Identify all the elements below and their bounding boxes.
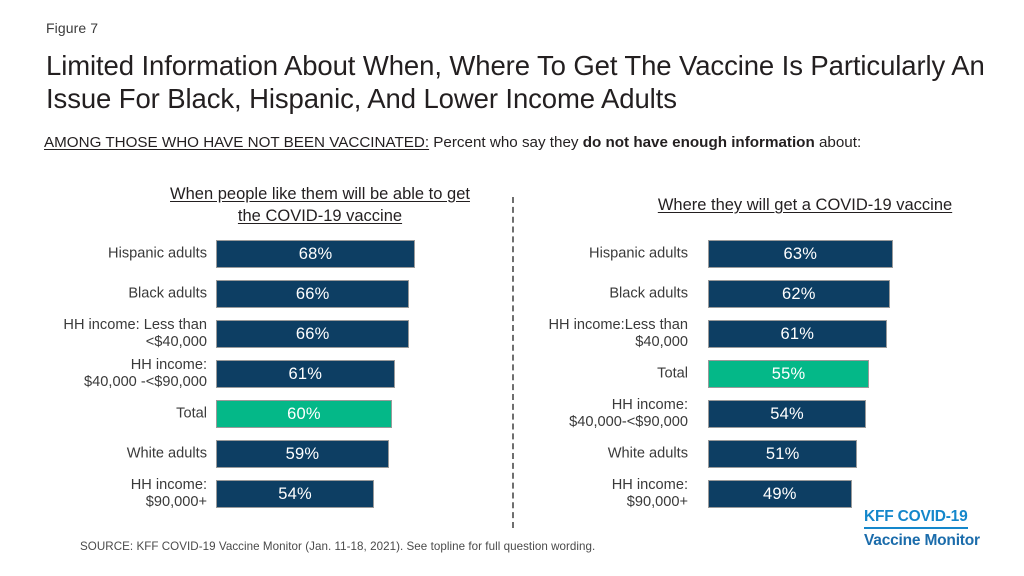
subtitle-underlined-part: AMONG THOSE WHO HAVE NOT BEEN VACCINATED… xyxy=(44,134,429,151)
bar-value-label: 66% xyxy=(296,325,330,343)
bar-category-label: Hispanic adults xyxy=(520,246,688,263)
bar-value-label: 62% xyxy=(782,285,816,303)
bar-category-label: Total xyxy=(520,366,688,383)
chart-title-left: When people like them will be able to ge… xyxy=(160,183,480,227)
subtitle-normal-part-1: Percent who say they xyxy=(429,134,583,151)
bar-category-label: Hispanic adults xyxy=(0,246,207,263)
kff-logo-line2: Vaccine Monitor xyxy=(864,532,1004,550)
bar-category-label: Black adults xyxy=(0,286,207,303)
bar: 62% xyxy=(708,280,890,308)
bar: 54% xyxy=(216,480,374,508)
kff-logo-line1: KFF COVID-19 xyxy=(864,508,968,529)
bar-row: HH income: Less than <$40,00066% xyxy=(0,314,500,354)
bar: 61% xyxy=(216,360,395,388)
slide-canvas: Figure 7 Limited Information About When,… xyxy=(0,0,1024,576)
bar-row: White adults51% xyxy=(520,434,1020,474)
bar-value-label: 63% xyxy=(783,245,817,263)
bar-category-label: HH income: $90,000+ xyxy=(0,477,207,511)
bar-row: White adults59% xyxy=(0,434,500,474)
bar: 51% xyxy=(708,440,857,468)
kff-logo[interactable]: KFF COVID-19 Vaccine Monitor xyxy=(864,508,1004,550)
bar-value-label: 60% xyxy=(287,405,321,423)
bar-category-label: HH income: Less than <$40,000 xyxy=(0,317,207,351)
bar-row: Hispanic adults68% xyxy=(0,234,500,274)
bar: 66% xyxy=(216,280,409,308)
subtitle-bold-part: do not have enough information xyxy=(583,134,815,151)
bar: 68% xyxy=(216,240,415,268)
chart-title-right: Where they will get a COVID-19 vaccine xyxy=(600,194,1010,216)
bar-row: HH income: $40,000 -<$90,00061% xyxy=(0,354,500,394)
bar-category-label: Total xyxy=(0,406,207,423)
subtitle-normal-part-2: about: xyxy=(815,134,861,151)
bar-category-label: White adults xyxy=(520,446,688,463)
page-title: Limited Information About When, Where To… xyxy=(46,49,1006,115)
bar-value-label: 54% xyxy=(770,405,804,423)
bar-value-label: 54% xyxy=(278,485,312,503)
bar-category-label: Black adults xyxy=(520,286,688,303)
bar-chart-right: Hispanic adults63%Black adults62%HH inco… xyxy=(520,232,1020,522)
bar-row: Total60% xyxy=(0,394,500,434)
bar-category-label: HH income:Less than $40,000 xyxy=(520,317,688,351)
bar-row: Black adults66% xyxy=(0,274,500,314)
figure-label: Figure 7 xyxy=(46,20,98,36)
bar-value-label: 59% xyxy=(286,445,320,463)
bar-row: Hispanic adults63% xyxy=(520,234,1020,274)
bar-value-label: 55% xyxy=(772,365,806,383)
bar-value-label: 61% xyxy=(289,365,323,383)
source-note: SOURCE: KFF COVID-19 Vaccine Monitor (Ja… xyxy=(80,540,595,553)
bar-row: HH income: $90,000+54% xyxy=(0,474,500,514)
bar: 60% xyxy=(216,400,392,428)
bar: 49% xyxy=(708,480,852,508)
panel-divider xyxy=(512,197,514,528)
subtitle: AMONG THOSE WHO HAVE NOT BEEN VACCINATED… xyxy=(44,130,984,155)
bar-value-label: 68% xyxy=(299,245,333,263)
bar: 61% xyxy=(708,320,887,348)
bar-row: HH income: $40,000-<$90,00054% xyxy=(520,394,1020,434)
bar: 59% xyxy=(216,440,389,468)
bar-value-label: 51% xyxy=(766,445,800,463)
bar: 63% xyxy=(708,240,893,268)
bar-category-label: White adults xyxy=(0,446,207,463)
bar-row: Total55% xyxy=(520,354,1020,394)
bar-value-label: 66% xyxy=(296,285,330,303)
bar: 66% xyxy=(216,320,409,348)
bar-row: Black adults62% xyxy=(520,274,1020,314)
bar-category-label: HH income: $40,000 -<$90,000 xyxy=(0,357,207,391)
bar-value-label: 61% xyxy=(781,325,815,343)
bar: 55% xyxy=(708,360,869,388)
bar-value-label: 49% xyxy=(763,485,797,503)
bar-category-label: HH income: $40,000-<$90,000 xyxy=(520,397,688,431)
bar-chart-left: Hispanic adults68%Black adults66%HH inco… xyxy=(0,232,500,522)
bar: 54% xyxy=(708,400,866,428)
bar-category-label: HH income: $90,000+ xyxy=(520,477,688,511)
bar-row: HH income:Less than $40,00061% xyxy=(520,314,1020,354)
